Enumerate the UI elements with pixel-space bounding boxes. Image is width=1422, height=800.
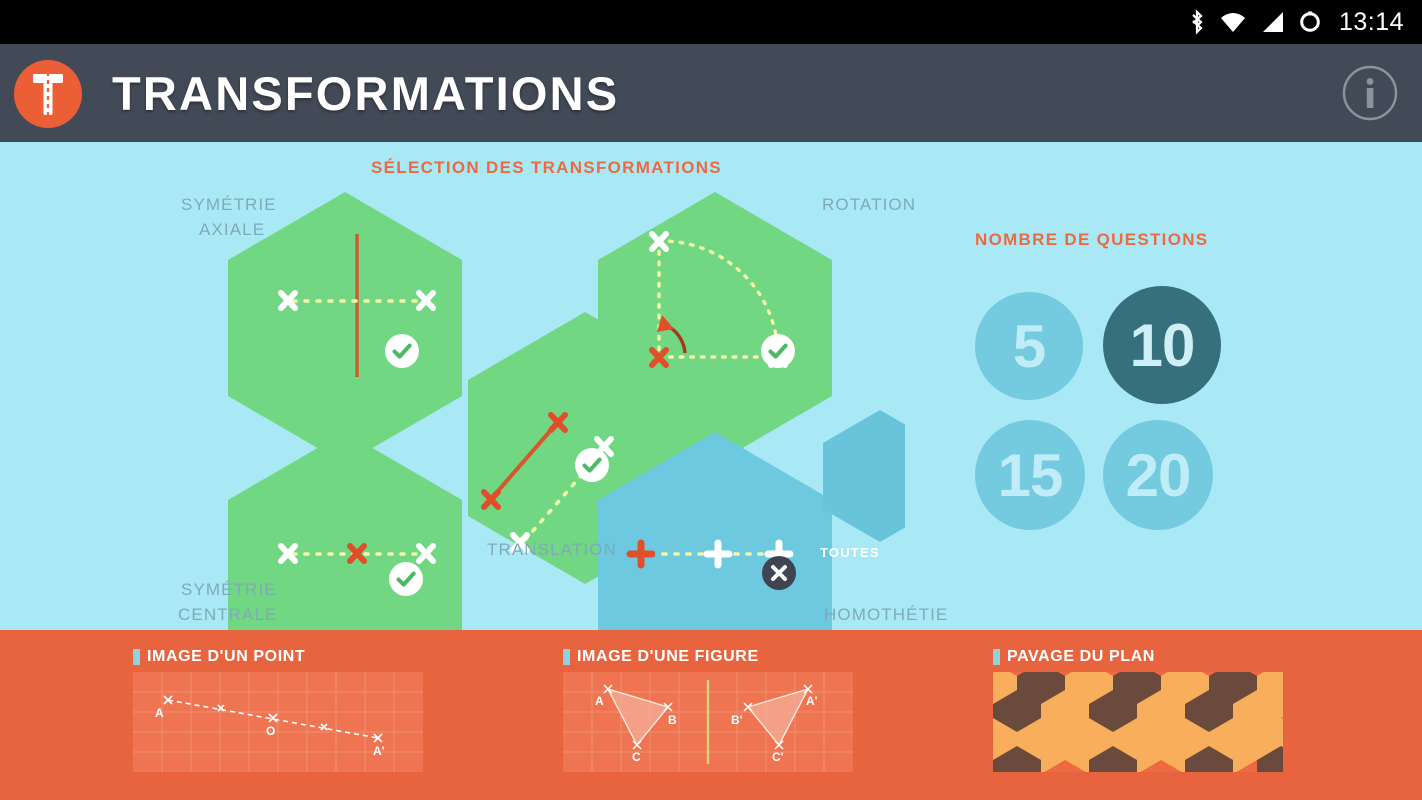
panel-thumbnail-1[interactable]: A O A' [133, 672, 423, 772]
panel-pavage-du-plan[interactable]: PAVAGE DU PLAN [993, 648, 1283, 772]
questions-title: NOMBRE DE QUESTIONS [975, 230, 1208, 250]
figure-label-bprime: B' [731, 713, 743, 727]
status-clock: 13:14 [1339, 8, 1404, 37]
check-icon-rotation[interactable] [761, 334, 795, 368]
point-label-o: O [266, 724, 275, 738]
signal-icon [1260, 10, 1285, 34]
panel-thumbnail-3[interactable] [993, 672, 1283, 772]
panel-thumbnail-2[interactable]: A B C B' C' A' [563, 672, 853, 772]
figure-label-cprime: C' [772, 750, 784, 764]
panel-header-1: IMAGE D'UN POINT [133, 648, 423, 666]
point-label-a: A [155, 706, 164, 720]
selection-title: SÉLECTION DES TRANSFORMATIONS [371, 158, 722, 178]
tick-marker-icon [563, 649, 570, 665]
hexagon-label-rotation: ROTATION [822, 192, 916, 217]
hexagon-cluster [225, 182, 905, 632]
hexagon-label-symetrie-axiale-line2: AXIALE [199, 217, 265, 242]
panel-header-2: IMAGE D'UNE FIGURE [563, 648, 853, 666]
question-count-5[interactable]: 5 [975, 292, 1083, 400]
app-root: 13:14 TRANSFORMATIONS SÉLECTION DES TRAN… [0, 0, 1422, 800]
panel-title-1: IMAGE D'UN POINT [147, 648, 305, 666]
cross-icon-homothetie[interactable] [762, 556, 796, 590]
figure-label-b: B [668, 713, 677, 727]
status-bar: 13:14 [0, 0, 1422, 44]
hexagon-label-translation: TRANSLATION [487, 537, 617, 562]
figure-label-aprime: A' [806, 694, 818, 708]
toutes-label[interactable]: TOUTES [820, 540, 880, 565]
hexagon-label-symetrie-axiale-line1: SYMÉTRIE [181, 192, 277, 217]
check-icon-symetrie-centrale[interactable] [389, 562, 423, 596]
check-icon-translation[interactable] [575, 448, 609, 482]
hexagon-label-symetrie-centrale-line2: CENTRALE [178, 602, 278, 627]
figure-label-c: C [632, 750, 641, 764]
question-count-20[interactable]: 20 [1103, 420, 1213, 530]
hexagon-label-homothetie: HOMOTHÉTIE [824, 602, 948, 627]
question-count-10[interactable]: 10 [1103, 286, 1221, 404]
page-title: TRANSFORMATIONS [112, 62, 619, 126]
panel-header-3: PAVAGE DU PLAN [993, 648, 1283, 666]
hexagon-label-symetrie-centrale-line1: SYMÉTRIE [181, 577, 277, 602]
hexagon-toutes[interactable] [823, 410, 905, 542]
battery-icon [1298, 9, 1322, 35]
bluetooth-icon [1188, 9, 1206, 35]
wifi-icon [1219, 10, 1247, 34]
figure-label-a: A [595, 694, 604, 708]
tick-marker-icon [993, 649, 1000, 665]
point-label-aprime: A' [373, 744, 385, 758]
question-count-15[interactable]: 15 [975, 420, 1085, 530]
selection-board: SÉLECTION DES TRANSFORMATIONS [0, 142, 1422, 630]
panel-image-dune-figure[interactable]: IMAGE D'UNE FIGURE [563, 648, 853, 772]
app-bar: TRANSFORMATIONS [0, 44, 1422, 142]
check-icon-symetrie-axiale[interactable] [385, 334, 419, 368]
tick-marker-icon [133, 649, 140, 665]
app-logo-icon [14, 60, 82, 128]
panel-title-2: IMAGE D'UNE FIGURE [577, 648, 759, 666]
mode-bar: IMAGE D'UN POINT [0, 630, 1422, 800]
panel-title-3: PAVAGE DU PLAN [1007, 648, 1155, 666]
info-button[interactable] [1340, 63, 1400, 123]
panel-image-dun-point[interactable]: IMAGE D'UN POINT [133, 648, 423, 772]
